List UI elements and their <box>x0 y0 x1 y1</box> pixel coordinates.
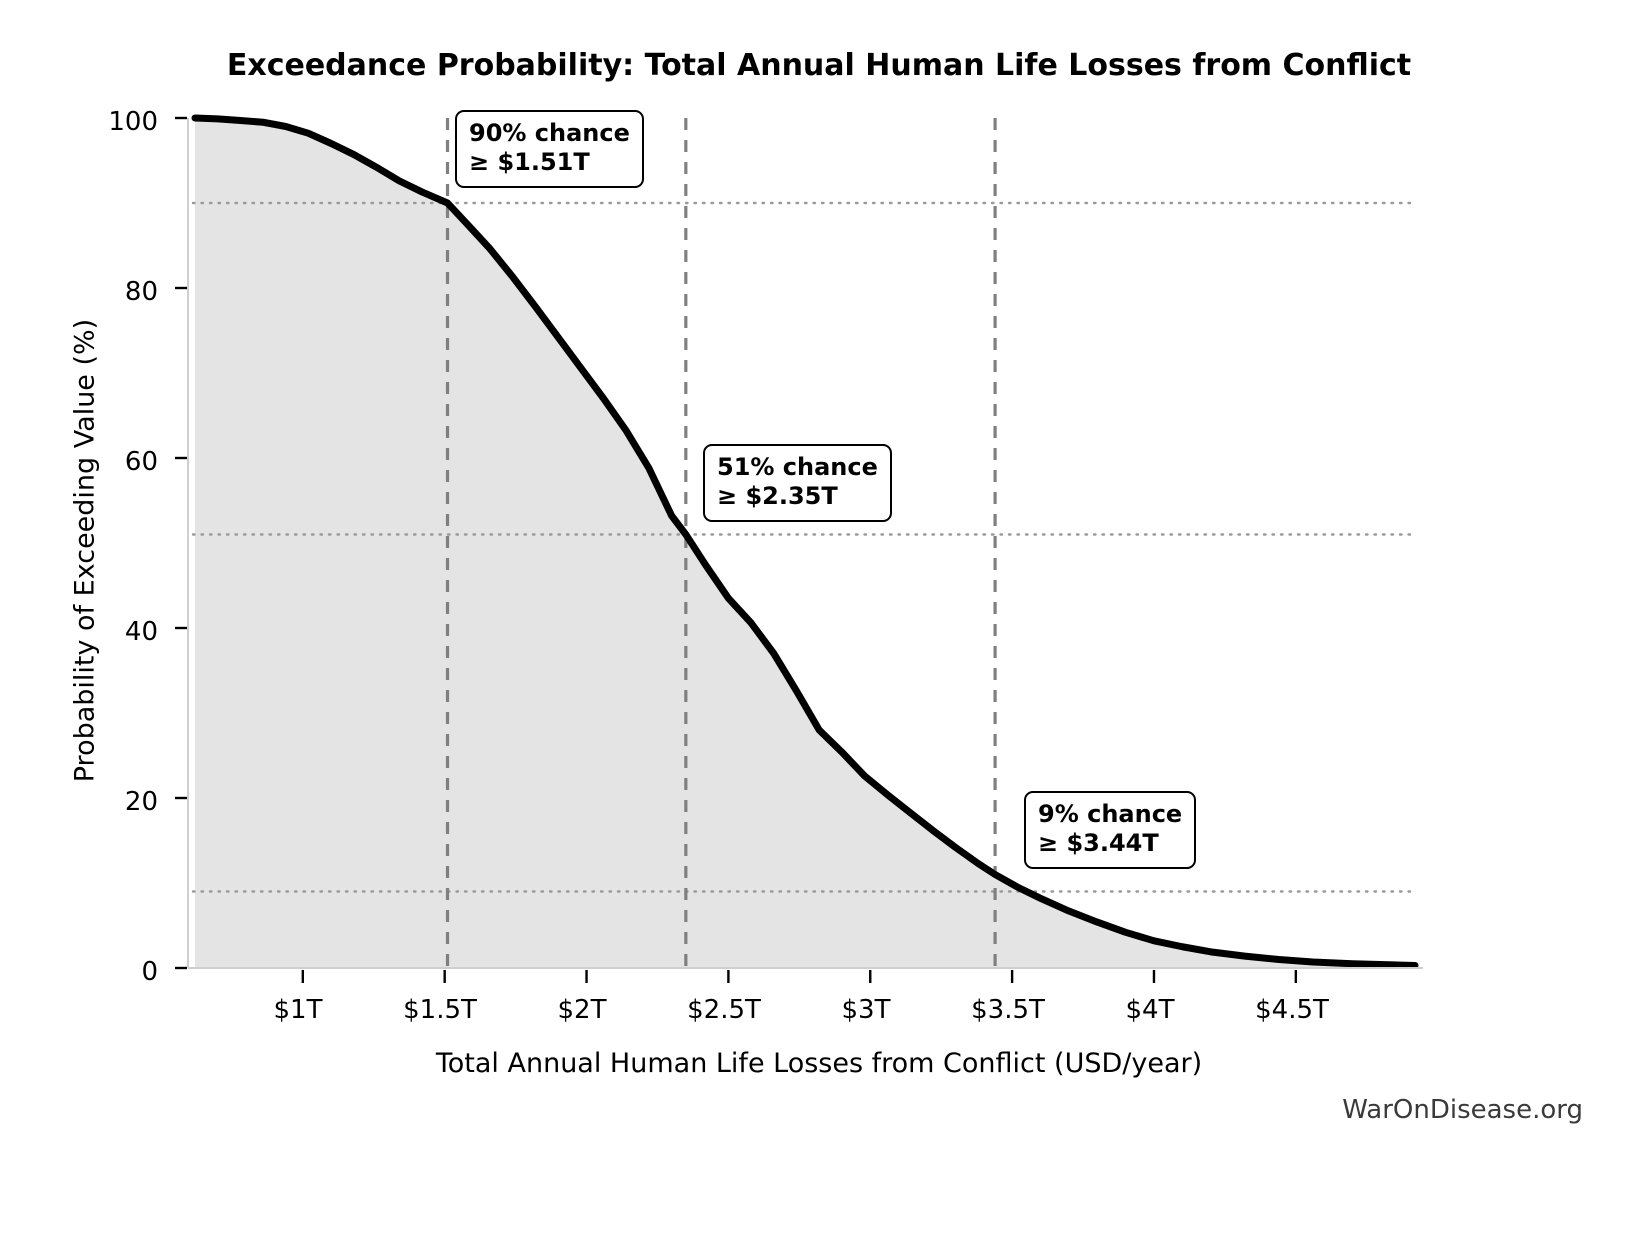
annotation-51-line1: 51% chance <box>717 453 878 482</box>
watermark-text: WarOnDisease.org <box>1342 1095 1583 1125</box>
xtick-label-2t: $2T <box>502 995 662 1025</box>
area-fill <box>195 118 1415 968</box>
xtick-label-1t: $1T <box>218 995 378 1025</box>
annotation-box-90: 90% chance ≥ $1.51T <box>455 110 644 188</box>
ytick-label-100: 100 <box>68 107 158 137</box>
xtick-label-4t: $4T <box>1070 995 1230 1025</box>
annotation-90-line2: ≥ $1.51T <box>469 148 630 177</box>
xtick-label-4-5t: $4.5T <box>1212 995 1372 1025</box>
annotation-9-line1: 9% chance <box>1038 800 1182 829</box>
chart-figure: Exceedance Probability: Total Annual Hum… <box>0 0 1638 1234</box>
annotation-51-line2: ≥ $2.35T <box>717 482 878 511</box>
y-axis-title: Probability of Exceeding Value (%) <box>70 251 101 851</box>
annotation-90-line1: 90% chance <box>469 119 630 148</box>
annotation-box-51: 51% chance ≥ $2.35T <box>703 444 892 522</box>
annotation-box-9: 9% chance ≥ $3.44T <box>1024 791 1196 869</box>
xtick-label-3-5t: $3.5T <box>928 995 1088 1025</box>
x-axis-title: Total Annual Human Life Losses from Conf… <box>0 1048 1638 1079</box>
xtick-label-2-5t: $2.5T <box>644 995 804 1025</box>
ytick-label-0: 0 <box>68 957 158 987</box>
xtick-label-1-5t: $1.5T <box>360 995 520 1025</box>
annotation-9-line2: ≥ $3.44T <box>1038 829 1182 858</box>
xtick-label-3t: $3T <box>786 995 946 1025</box>
